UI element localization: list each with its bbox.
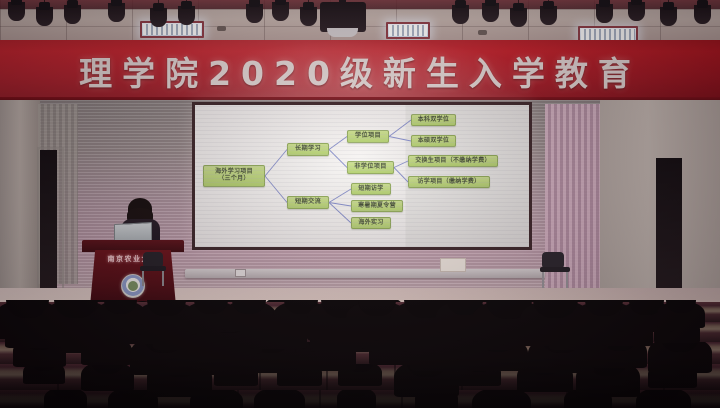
stage-spotlight-icon [108, 3, 125, 22]
diagram-connector [394, 161, 408, 168]
chair-leg [542, 272, 544, 288]
podium-area: 南京农业大学 [78, 196, 188, 306]
stage-spotlight-icon [150, 8, 167, 27]
diagram-connector [329, 150, 347, 168]
projector-mount [339, 0, 346, 4]
diagram-node-root: 海外学习项目 （三个月） [203, 165, 265, 187]
banner-title: 理学院2020级新生入学教育 [0, 40, 720, 102]
doorway-icon [656, 158, 682, 294]
diagram-connector [329, 189, 351, 203]
wall-sign-icon [440, 258, 466, 272]
projector-icon [320, 2, 366, 32]
stage-spotlight-icon [246, 4, 263, 23]
ceiling-panel-light-icon [386, 22, 430, 39]
chair-icon [140, 252, 166, 286]
ceiling [0, 0, 720, 44]
stage-spotlight-icon [694, 5, 711, 24]
diagram-node-short: 短期交流 [287, 196, 329, 209]
diagram-node-bachelor: 本科双学位 [411, 114, 456, 126]
chair-leg [566, 272, 568, 288]
auditorium-photo: 理学院2020级新生入学教育 海外学习项目 （三个月）长期学习短期交流学位项目非… [0, 0, 720, 408]
diagram-node-visiting: 访学项目（缴纳学费） [408, 176, 490, 188]
diagram-node-nondegree: 非学位项目 [347, 161, 394, 174]
screen-surface: 海外学习项目 （三个月）长期学习短期交流学位项目非学位项目本科双学位本硕双学位交… [195, 105, 529, 247]
stage-spotlight-icon [452, 5, 469, 24]
diagram-node-stvisit: 短期访学 [351, 183, 391, 195]
smoke-detector-icon [478, 30, 487, 35]
stage-spotlight-icon [628, 2, 645, 21]
diagram-connector [389, 137, 411, 142]
projector-lens [327, 28, 358, 37]
event-banner: 理学院2020级新生入学教育 [0, 40, 720, 102]
diagram-node-degree: 学位项目 [347, 130, 389, 143]
slide-diagram: 海外学习项目 （三个月）长期学习短期交流学位项目非学位项目本科双学位本硕双学位交… [195, 105, 529, 247]
diagram-connector [265, 150, 287, 177]
stage-spotlight-icon [510, 8, 527, 27]
diagram-connector [394, 168, 408, 183]
projection-screen: 海外学习项目 （三个月）长期学习短期交流学位项目非学位项目本科双学位本硕双学位交… [192, 102, 532, 250]
wall-pillar-left [0, 100, 40, 292]
diagram-node-long: 长期学习 [287, 143, 329, 156]
stage-spotlight-icon [8, 2, 25, 21]
audience-seating [0, 300, 720, 408]
stage-spotlight-icon [178, 6, 195, 25]
diagram-connector [265, 176, 287, 203]
door-frame-left [37, 147, 64, 297]
stage-spotlight-icon [300, 7, 317, 26]
diagram-connector [329, 137, 347, 150]
stage-spotlight-icon [272, 2, 289, 21]
ceiling-panel-light-icon [140, 21, 204, 38]
diagram-connector [389, 120, 411, 137]
diagram-node-master: 本硕双学位 [411, 135, 456, 147]
smoke-detector-icon [217, 26, 226, 31]
diagram-node-camp: 寒暑期夏令营 [351, 200, 403, 212]
stage-spotlight-icon [660, 7, 677, 26]
stage-spotlight-icon [540, 6, 557, 25]
diagram-node-intern: 海外实习 [351, 217, 391, 229]
stage-spotlight-icon [482, 3, 499, 22]
diagram-node-exchange: 交换生项目（不缴纳学费） [408, 155, 498, 167]
stage-spotlight-icon [36, 7, 53, 26]
chair-icon [540, 252, 570, 288]
chair-leg [162, 271, 164, 286]
stage-spotlight-icon [596, 4, 613, 23]
audience-shadow-overlay [0, 356, 720, 408]
stage-spotlight-icon [64, 5, 81, 24]
chair-leg [142, 271, 144, 286]
